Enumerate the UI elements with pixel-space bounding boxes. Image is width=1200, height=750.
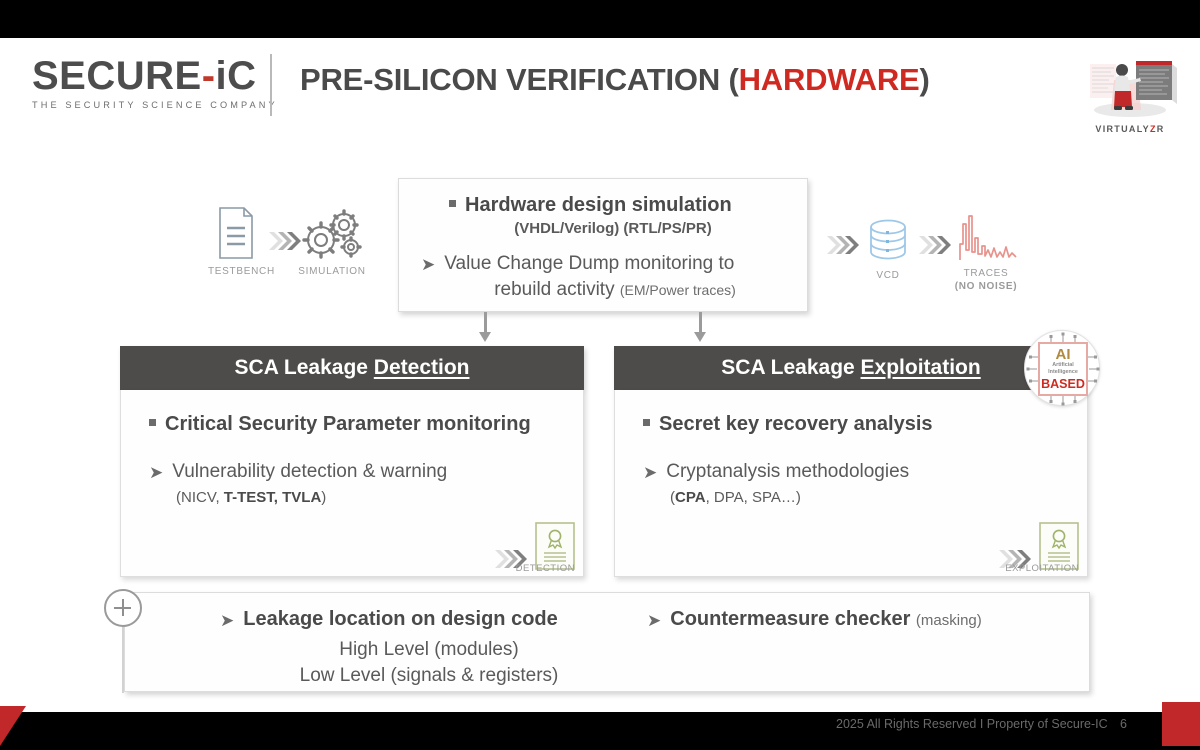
title-accent: HARDWARE [739,62,920,97]
arrow-bullet-icon: ➤ [647,612,661,629]
product-name-z: Z [1150,124,1157,134]
arrow-bullet-icon: ➤ [149,464,163,481]
detection-bullet-2-text: Vulnerability detection & warning [172,459,447,484]
ai-badge-line-2: Artificial Intelligence [1040,362,1086,376]
logo-tagline: THE SECURITY SCIENCE COMPANY [32,100,260,110]
logo-suffix-text: iC [216,54,257,98]
exploitation-bullet-1: Secret key recovery analysis [643,412,1069,437]
detection-note-bold: T-TEST, TVLA [224,489,322,506]
panel-detection-header: SCA Leakage Detection [120,346,584,390]
bottom-right-bullet-note: (masking) [916,612,982,629]
pipeline-testbench-label: TESTBENCH [208,265,264,278]
square-bullet-icon [643,419,650,426]
panel-detection-header-keyword: Detection [374,356,470,379]
bottom-right-bullet-text: Countermeasure checker (masking) [670,607,982,632]
panel-sca-leakage-detection: SCA Leakage Detection Critical Security … [120,346,584,577]
exploitation-icon-block: EXPLOITATION [998,522,1079,570]
pipeline-traces: TRACES (NO NOISE) [952,214,1020,293]
header-divider [270,54,272,116]
plus-circle-icon[interactable] [104,589,142,627]
footer-page-number: 6 [1120,717,1127,731]
pipeline-simulation-label: SIMULATION [297,265,367,278]
top-card-bullet-1-text: Hardware design simulation [465,193,732,218]
detection-bullet-2: ➤ Vulnerability detection & warning [149,459,565,484]
page-title: PRE-SILICON VERIFICATION (HARDWARE) [300,62,930,98]
detection-bullet-1: Critical Security Parameter monitoring [149,412,565,437]
bottom-features-card: ➤ Leakage location on design code High L… [124,592,1090,692]
pipeline-traces-label: TRACES [952,267,1020,280]
slide-canvas: SECURE-iC THE SECURITY SCIENCE COMPANY P… [0,38,1200,712]
top-card-bullet-1-sub: (VHDL/Verilog) (RTL/PS/PR) [413,219,793,239]
bottom-left-sub-1: High Level (modules) [220,637,620,662]
plus-connector-stem [122,627,124,693]
logo-wordmark: SECURE-iC [32,54,260,98]
arrow-bullet-icon: ➤ [643,464,657,481]
detection-note: (NICV, T-TEST, TVLA) [149,489,565,506]
square-bullet-icon [449,200,456,207]
chevrons-right-icon [826,234,860,256]
virtualyzr-product-mark: VIRTUALYZR [1078,50,1182,134]
title-close: ) [920,62,930,97]
square-bullet-icon [149,419,156,426]
bottom-left-bullet: ➤ Leakage location on design code [220,607,620,632]
panel-detection-header-text: SCA Leakage Detection [235,356,470,380]
pipeline-chevron-3 [918,234,952,261]
panel-exploitation-header-text: SCA Leakage Exploitation [721,356,980,380]
exploitation-bullet-1-text: Secret key recovery analysis [659,412,933,437]
chevrons-right-icon [918,234,952,256]
top-simulation-card: Hardware design simulation (VHDL/Verilog… [398,178,808,312]
pipeline-vcd-label: VCD [862,269,914,282]
exploitation-bullet-2-text: Cryptanalysis methodologies [666,459,909,484]
pipeline-testbench: TESTBENCH [208,206,264,278]
virtualyzr-illustration-icon [1078,50,1182,122]
bottom-right-block: ➤ Countermeasure checker (masking) [647,607,1067,632]
panel-exploitation-body: Secret key recovery analysis ➤ Cryptanal… [614,390,1088,577]
panel-exploitation-header: SCA Leakage Exploitation [614,346,1088,390]
pipeline-vcd: VCD [862,218,914,282]
panel-detection-body: Critical Security Parameter monitoring ➤… [120,390,584,577]
slide-root: SECURE-iC THE SECURITY SCIENCE COMPANY P… [0,0,1200,750]
panel-detection-header-prefix: SCA Leakage [235,356,374,379]
exploitation-note-close: , DPA, SPA…) [706,489,801,506]
pipeline-traces-sublabel: (NO NOISE) [952,280,1020,293]
product-name-part-a: VIRTUALY [1095,124,1150,134]
detection-note-open: (NICV, [176,489,224,506]
bottom-left-block: ➤ Leakage location on design code High L… [220,607,620,688]
top-card-bullet-2-text: Value Change Dump monitoring to [444,251,734,276]
exploitation-bullet-2: ➤ Cryptanalysis methodologies [643,459,1069,484]
logo-dash: - [202,54,216,98]
detection-icon-caption: DETECTION [516,563,575,574]
exploitation-icon-caption: EXPLOITATION [1005,563,1079,574]
detection-bullet-1-text: Critical Security Parameter monitoring [165,412,531,437]
top-card-bullet-2-line2: rebuild activity (EM/Power traces) [413,277,793,302]
virtualyzr-label: VIRTUALYZR [1078,124,1182,134]
panel-exploitation-header-keyword: Exploitation [861,356,981,379]
bottom-right-bullet: ➤ Countermeasure checker (masking) [647,607,1067,632]
pipeline-chevron-2 [826,234,860,261]
pipeline-simulation: SIMULATION [297,208,367,278]
waveform-icon [954,214,1018,262]
ai-based-badge: AI Artificial Intelligence BASED [1024,330,1100,406]
exploitation-note: (CPA, DPA, SPA…) [643,489,1069,506]
ai-badge-line-3: BASED [1041,377,1085,392]
secure-ic-logo: SECURE-iC THE SECURITY SCIENCE COMPANY [32,54,260,116]
bottom-left-sub-2: Low Level (signals & registers) [220,663,620,688]
arrow-bullet-icon: ➤ [220,612,234,629]
title-main: PRE-SILICON VERIFICATION ( [300,62,739,97]
ai-badge-inner: AI Artificial Intelligence BASED [1038,342,1088,396]
top-card-bullet-2-text-b: rebuild activity [494,279,620,300]
panel-sca-leakage-exploitation: SCA Leakage Exploitation Secret key reco… [614,346,1088,577]
top-card-bullet-1: Hardware design simulation [413,193,793,218]
detection-icon-block: DETECTION [494,522,575,570]
bottom-right-bullet-bold: Countermeasure checker [670,608,916,630]
bottom-left-bullet-text: Leakage location on design code [243,607,558,632]
gears-icon [299,208,365,260]
detection-note-close: ) [321,489,326,506]
footer-corner-left-accent [0,706,26,746]
ai-badge-line-1: AI [1056,347,1071,362]
top-card-bullet-2-note: (EM/Power traces) [620,282,736,298]
logo-main-text: SECURE [32,54,202,98]
product-name-part-b: R [1157,124,1165,134]
arrow-bullet-icon: ➤ [421,256,435,273]
top-card-bullet-2: ➤ Value Change Dump monitoring to [413,251,793,276]
footer-corner-right-accent [1162,702,1200,746]
database-icon [863,218,913,264]
document-icon [214,206,258,260]
exploitation-note-bold: CPA [675,489,706,506]
panel-exploitation-header-prefix: SCA Leakage [721,356,860,379]
footer-copyright: 2025 All Rights Reserved I Property of S… [836,717,1108,731]
